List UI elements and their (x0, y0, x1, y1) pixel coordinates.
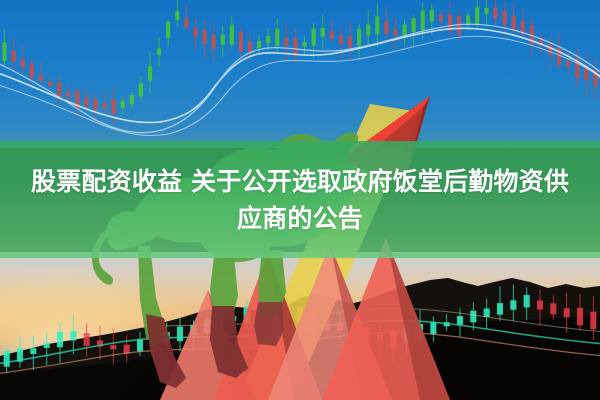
headline-line-2: 应商的公告 (237, 202, 363, 235)
bull-hoof-rear (146, 314, 186, 388)
headline-line-1: 股票配资收益 关于公开选取政府饭堂后勤物资供 (31, 165, 569, 198)
headline-block: 股票配资收益 关于公开选取政府饭堂后勤物资供 应商的公告 (0, 141, 600, 258)
banner-image: 股票配资收益 关于公开选取政府饭堂后勤物资供 应商的公告 (0, 0, 600, 400)
bull-hoof-front-2 (254, 302, 284, 346)
bull-hoof-front (210, 306, 248, 378)
